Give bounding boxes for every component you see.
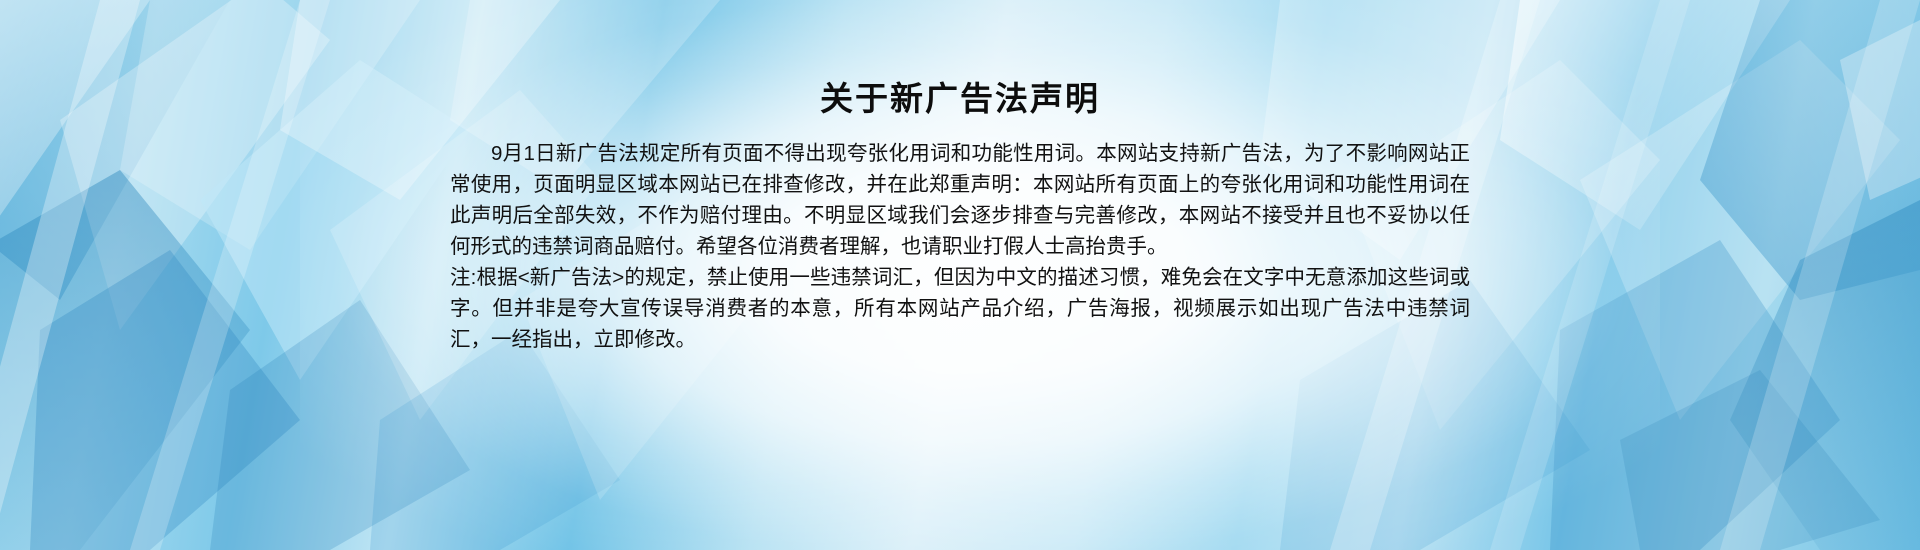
statement-paragraph-2: 注:根据<新广告法>的规定，禁止使用一些违禁词汇，但因为中文的描述习惯，难免会在… (450, 262, 1470, 355)
statement-content: 关于新广告法声明 9月1日新广告法规定所有页面不得出现夸张化用词和功能性用词。本… (450, 78, 1470, 355)
page-title: 关于新广告法声明 (450, 78, 1470, 120)
advertising-law-statement-banner: 关于新广告法声明 9月1日新广告法规定所有页面不得出现夸张化用词和功能性用词。本… (0, 0, 1920, 550)
statement-paragraph-1: 9月1日新广告法规定所有页面不得出现夸张化用词和功能性用词。本网站支持新广告法，… (450, 138, 1470, 262)
